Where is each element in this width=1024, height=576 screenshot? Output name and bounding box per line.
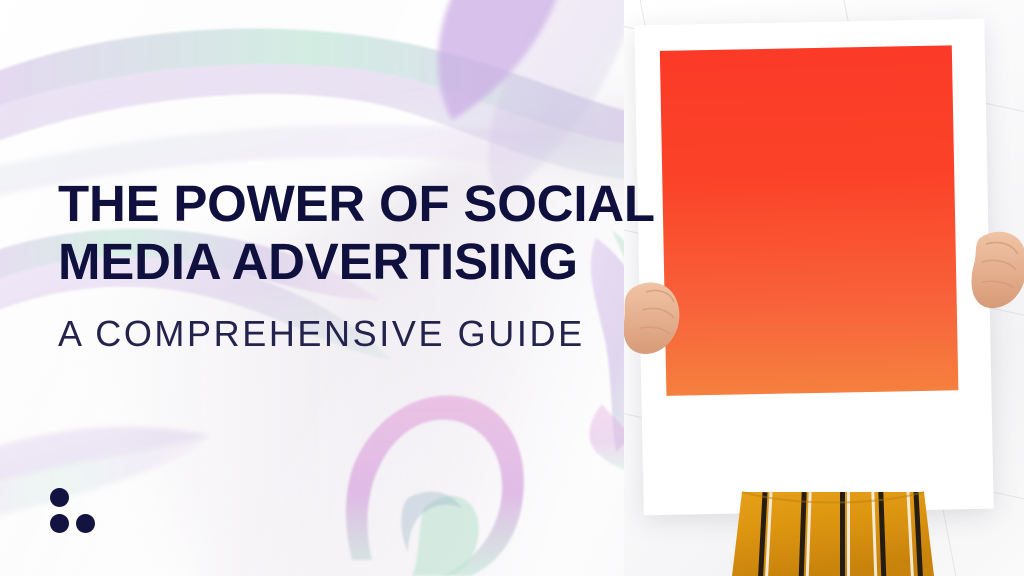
- polaroid-frame: [634, 19, 993, 516]
- page-subtitle: A COMPREHENSIVE GUIDE: [58, 316, 658, 352]
- brand-logo[interactable]: [50, 488, 100, 534]
- logo-dot-bottom-left: [50, 514, 69, 533]
- page-title: THE POWER OF SOCIAL MEDIA ADVERTISING: [58, 175, 658, 290]
- slide-canvas: THE POWER OF SOCIAL MEDIA ADVERTISING A …: [0, 0, 1024, 576]
- polaroid-photo-window: [660, 45, 959, 396]
- hero-photo: [624, 0, 1024, 576]
- logo-dot-top-left: [50, 488, 69, 507]
- headline-block: THE POWER OF SOCIAL MEDIA ADVERTISING A …: [58, 175, 658, 352]
- logo-dot-bottom-right: [76, 514, 95, 533]
